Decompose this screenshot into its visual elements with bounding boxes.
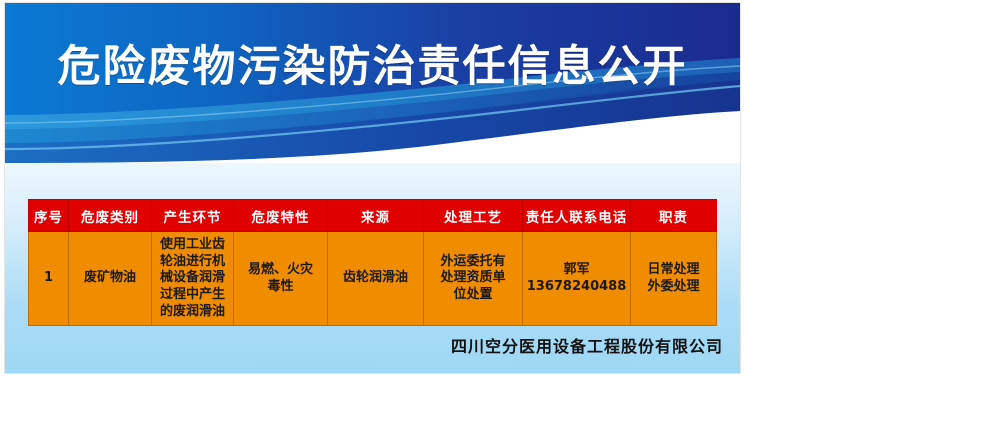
hazard-line-1: 易燃、火灾 [236,262,325,279]
treatment-line-3: 位处置 [426,287,520,304]
poster-header-banner: 危险废物污染防治责任信息公开 [5,3,740,163]
hazard-line-2: 毒性 [236,279,325,296]
cell-responsible-contact: 郭军 13678240488 [523,232,631,326]
column-header-index: 序号 [29,200,69,232]
cell-duty: 日常处理 外委处理 [631,232,717,326]
column-header-source: 来源 [328,200,424,232]
cell-index: 1 [29,232,69,326]
column-header-stage: 产生环节 [152,200,234,232]
company-name: 四川空分医用设备工程股份有限公司 [5,333,723,357]
responsible-person-name: 郭军 [525,262,628,279]
column-header-duty: 职责 [631,200,717,232]
column-header-contact: 责任人联系电话 [523,200,631,232]
cell-hazard-property: 易燃、火灾 毒性 [234,232,328,326]
responsible-person-phone: 13678240488 [525,279,628,296]
table-row: 1 废矿物油 使用工业齿轮油进行机械设备润滑过程中产生的废润滑油 易燃、火灾 毒… [29,232,717,326]
cell-category: 废矿物油 [69,232,152,326]
cell-source: 齿轮润滑油 [328,232,424,326]
table-header-row: 序号 危废类别 产生环节 危废特性 来源 处理工艺 责任人联系电话 职责 [29,200,717,232]
treatment-line-2: 处理资质单 [426,270,520,287]
hazardous-waste-table: 序号 危废类别 产生环节 危废特性 来源 处理工艺 责任人联系电话 职责 1 废… [28,199,717,326]
column-header-treatment: 处理工艺 [424,200,523,232]
duty-line-2: 外委处理 [633,279,714,296]
column-header-hazard: 危废特性 [234,200,328,232]
duty-line-1: 日常处理 [633,262,714,279]
column-header-category: 危废类别 [69,200,152,232]
cell-treatment-process: 外运委托有 处理资质单 位处置 [424,232,523,326]
page-title: 危险废物污染防治责任信息公开 [5,46,740,89]
treatment-line-1: 外运委托有 [426,254,520,271]
information-disclosure-poster: 危险废物污染防治责任信息公开 序号 危废类别 产生环节 危废特性 来源 处理工艺… [5,3,740,373]
cell-generation-stage: 使用工业齿轮油进行机械设备润滑过程中产生的废润滑油 [152,232,234,326]
